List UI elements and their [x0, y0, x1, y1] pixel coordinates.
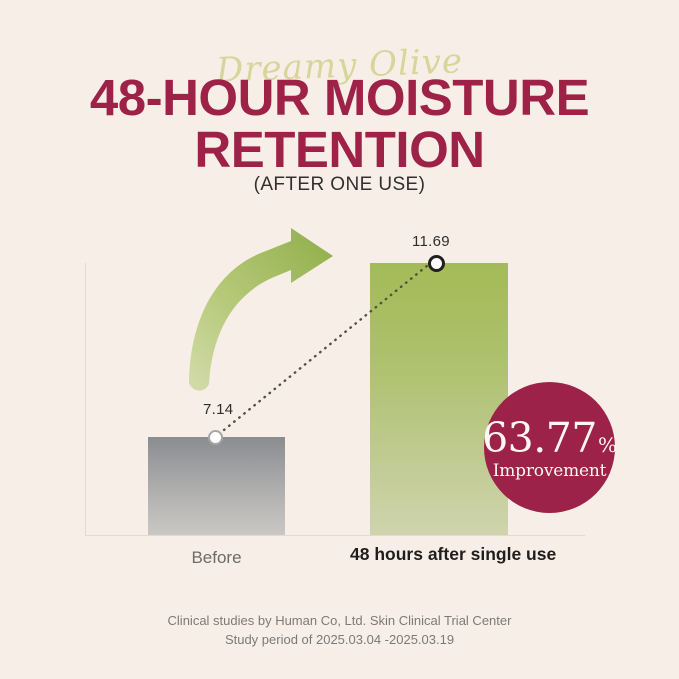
data-point-marker-after	[428, 255, 445, 272]
footer-line-1: Clinical studies by Human Co, Ltd. Skin …	[0, 611, 679, 630]
x-axis-label-after-line-2: after single use	[428, 544, 556, 564]
chart-y-axis	[85, 263, 86, 535]
x-axis-label-after: 48 hours after single use	[350, 543, 528, 565]
x-axis-label-after-line-1: 48 hours	[350, 544, 423, 564]
badge-percent-symbol: %	[598, 435, 617, 455]
page-title: 48-HOUR MOISTURE RETENTION	[0, 72, 679, 176]
badge-value-row: 63.77 %	[482, 418, 617, 459]
value-label-after: 11.69	[412, 233, 450, 250]
title-line-2: RETENTION	[0, 124, 679, 176]
bar-before	[148, 437, 285, 535]
data-point-marker-before	[208, 430, 223, 445]
x-axis-label-before: Before	[148, 548, 285, 568]
moisture-retention-infographic: Dreamy Olive 48-HOUR MOISTURE RETENTION …	[0, 0, 679, 679]
bar-after	[370, 263, 508, 535]
title-line-1: 48-HOUR MOISTURE	[0, 72, 679, 124]
badge-caption: Improvement	[493, 461, 607, 481]
value-label-before: 7.14	[203, 401, 233, 418]
page-subtitle: (AFTER ONE USE)	[0, 174, 679, 196]
footer-note: Clinical studies by Human Co, Ltd. Skin …	[0, 611, 679, 649]
badge-value: 63.77	[482, 418, 597, 459]
improvement-badge: 63.77 % Improvement	[484, 382, 615, 513]
footer-line-2: Study period of 2025.03.04 -2025.03.19	[0, 630, 679, 649]
chart-x-axis	[85, 535, 585, 536]
